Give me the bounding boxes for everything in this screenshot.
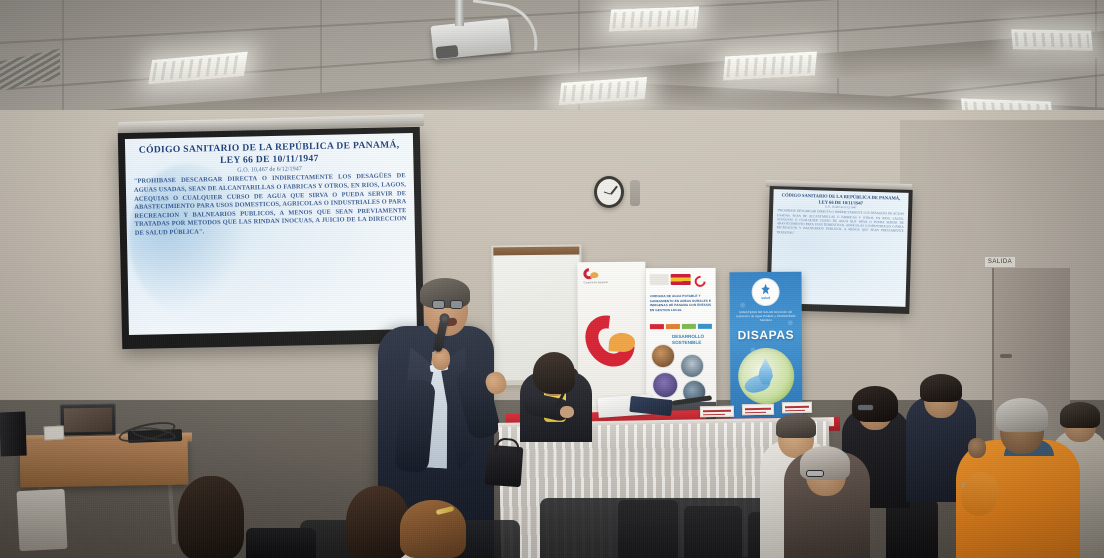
cooperacion-large-logo [587,314,633,368]
name-placard [742,404,774,416]
laptop-computer[interactable] [60,404,117,437]
name-placard [700,406,734,418]
seal-label: salud [761,296,770,300]
side-desk [20,439,189,488]
ministry-text: MINISTERIO DE SALUD Dirección del Subsec… [734,310,798,323]
presenter-hand-left [432,348,450,370]
logo-caption: Cooperación Española [583,282,607,285]
slide-subtitle: G.O. 10,467 de 6/12/1947 [237,166,302,174]
exit-sign: SALIDA [984,256,1016,268]
projector-lens [435,45,458,59]
ceiling-light-panel [609,6,699,31]
spain-flag-icon [671,273,690,284]
conference-room-photo: SALIDA CÓDIGO SANITARIO DE LA REPÚBLICA … [0,0,1104,558]
slide-title: CÓDIGO SANITARIO DE LA REPÚBLICA DE PANA… [133,139,405,168]
bag-on-floor [485,445,524,487]
caduceus-icon [760,284,771,296]
ministry-seal: salud [752,278,780,306]
whiteboard-trim [493,247,579,256]
attendee-hair [178,476,244,558]
banner-photo-circle [680,354,705,379]
chair-back[interactable] [246,528,316,558]
banner-tagline: DESARROLLO SOSTENIBLE [672,334,714,345]
chair[interactable] [16,489,67,551]
audience-hand [968,438,986,458]
projector-mount-pole [455,0,464,26]
secondary-slide-body: "PROHIBASE DESCARGAR DIRECTA O INDIRECTA… [776,209,904,238]
banner-disapas: salud MINISTERIO DE SALUD Dirección del … [729,272,802,422]
equipment-case [0,412,27,457]
aecid-logo-icon [692,273,711,284]
ceiling-light-panel [723,52,817,81]
audience-hair [920,374,962,402]
audience-hair [1060,402,1100,428]
banner-color-bars [650,324,712,329]
attendee-hair [400,500,466,558]
door-handle-icon[interactable] [1000,354,1012,358]
banner-name: DISAPAS [734,328,798,342]
chair-back[interactable] [886,500,938,558]
presentation-slide: CÓDIGO SANITARIO DE LA REPÚBLICA DE PANA… [125,133,417,335]
audience-hair [996,398,1048,432]
banner-photo-circle [652,372,679,399]
main-projection-screen: CÓDIGO SANITARIO DE LA REPÚBLICA DE PANA… [118,127,424,349]
attendee-hand [560,406,574,418]
ceiling-light-panel [1011,29,1093,50]
eyeglasses-icon [806,470,824,477]
cooperacion-small-logo: Cooperación Española [583,268,609,290]
wall-fixture [630,180,640,206]
banner-heading: JORNADA DE AGUA POTABLE Y SANEAMIENTO EN… [650,294,712,313]
wall-clock-icon [594,176,624,208]
attendee-hair [533,352,575,394]
small-placard [44,425,65,440]
slide-body-text: "PROHIBASE DESCARGAR DIRECTA O INDIRECTA… [134,173,407,239]
audience-hair [776,414,816,438]
banner-photo-circle [651,344,676,369]
name-placard [782,402,812,414]
sponsor-logo-row [650,272,712,286]
eyeglasses-icon [432,300,464,309]
eyeglasses-icon [857,404,874,411]
sponsor-logo-icon [650,274,669,285]
logo-flame-icon [590,272,598,278]
